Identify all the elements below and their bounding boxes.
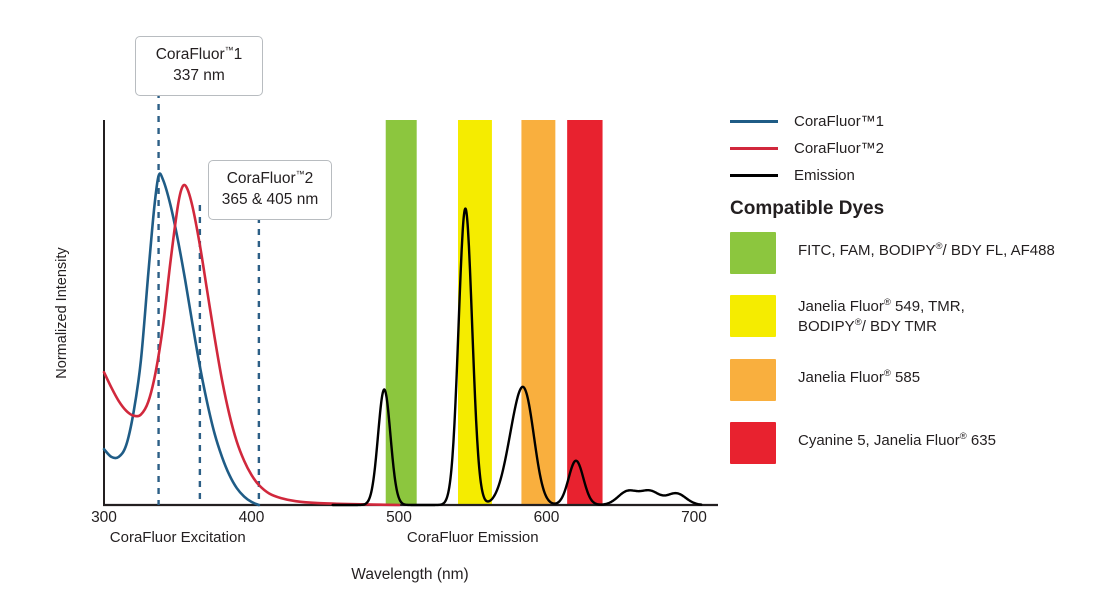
- dye-item-1: Janelia Fluor® 549, TMR,BODIPY®/ BDY TMR: [730, 295, 1105, 338]
- dye-color-swatch: [730, 359, 776, 401]
- dye-item-label: Janelia Fluor® 549, TMR,BODIPY®/ BDY TMR: [798, 295, 965, 338]
- legend-item-0: CoraFluor™1: [730, 108, 1100, 135]
- x-axis-section-excitation: CoraFluor Excitation: [68, 529, 288, 546]
- dye-color-swatch: [730, 295, 776, 337]
- callout-corafluor-2: CoraFluor™2 365 & 405 nm: [208, 160, 332, 220]
- legend-item-label: CoraFluor™2: [794, 140, 884, 157]
- x-axis-section-emission: CoraFluor Emission: [363, 529, 583, 546]
- callout-cf1-line2: 337 nm: [148, 66, 250, 87]
- x-tick-500: 500: [369, 509, 429, 527]
- callout-corafluor-1: CoraFluor™1 337 nm: [135, 36, 263, 96]
- spectral-chart: CoraFluor™1 337 nm CoraFluor™2 365 & 405…: [0, 0, 1110, 612]
- orange-band: [521, 120, 555, 505]
- x-axis-title: Wavelength (nm): [0, 566, 820, 584]
- legend-line-swatch: [730, 174, 778, 177]
- dye-color-swatch: [730, 232, 776, 274]
- legend-line-swatch: [730, 147, 778, 150]
- series-legend: CoraFluor™1CoraFluor™2Emission: [730, 108, 1100, 189]
- legend-item-1: CoraFluor™2: [730, 135, 1100, 162]
- dye-item-label: FITC, FAM, BODIPY®/ BDY FL, AF488: [798, 232, 1055, 261]
- curve-corafluor-2: [104, 185, 399, 505]
- callout-cf2-line1: CoraFluor™2: [227, 170, 314, 187]
- x-tick-600: 600: [517, 509, 577, 527]
- legend-item-2: Emission: [730, 162, 1100, 189]
- legend-item-label: CoraFluor™1: [794, 113, 884, 130]
- x-tick-400: 400: [222, 509, 282, 527]
- dye-item-label: Janelia Fluor® 585: [798, 359, 920, 388]
- callout-cf1-line1: CoraFluor™1: [156, 46, 243, 63]
- dye-item-2: Janelia Fluor® 585: [730, 359, 1105, 401]
- legend-item-label: Emission: [794, 167, 855, 184]
- trademark-icon: ™: [225, 45, 234, 55]
- curve-corafluor-1: [104, 174, 259, 505]
- x-tick-300: 300: [74, 509, 134, 527]
- red-band: [567, 120, 602, 505]
- x-tick-700: 700: [664, 509, 724, 527]
- compatible-dyes-title: Compatible Dyes: [730, 198, 884, 220]
- dye-item-label: Cyanine 5, Janelia Fluor® 635: [798, 422, 996, 451]
- trademark-icon: ™: [296, 169, 305, 179]
- yellow-band: [458, 120, 492, 505]
- callout-cf2-line2: 365 & 405 nm: [221, 190, 319, 211]
- dye-color-swatch: [730, 422, 776, 464]
- legend-line-swatch: [730, 120, 778, 123]
- compatible-dyes-list: FITC, FAM, BODIPY®/ BDY FL, AF488Janelia…: [730, 232, 1105, 485]
- dye-item-3: Cyanine 5, Janelia Fluor® 635: [730, 422, 1105, 464]
- dye-item-0: FITC, FAM, BODIPY®/ BDY FL, AF488: [730, 232, 1105, 274]
- y-axis-label: Normalized Intensity: [54, 213, 70, 413]
